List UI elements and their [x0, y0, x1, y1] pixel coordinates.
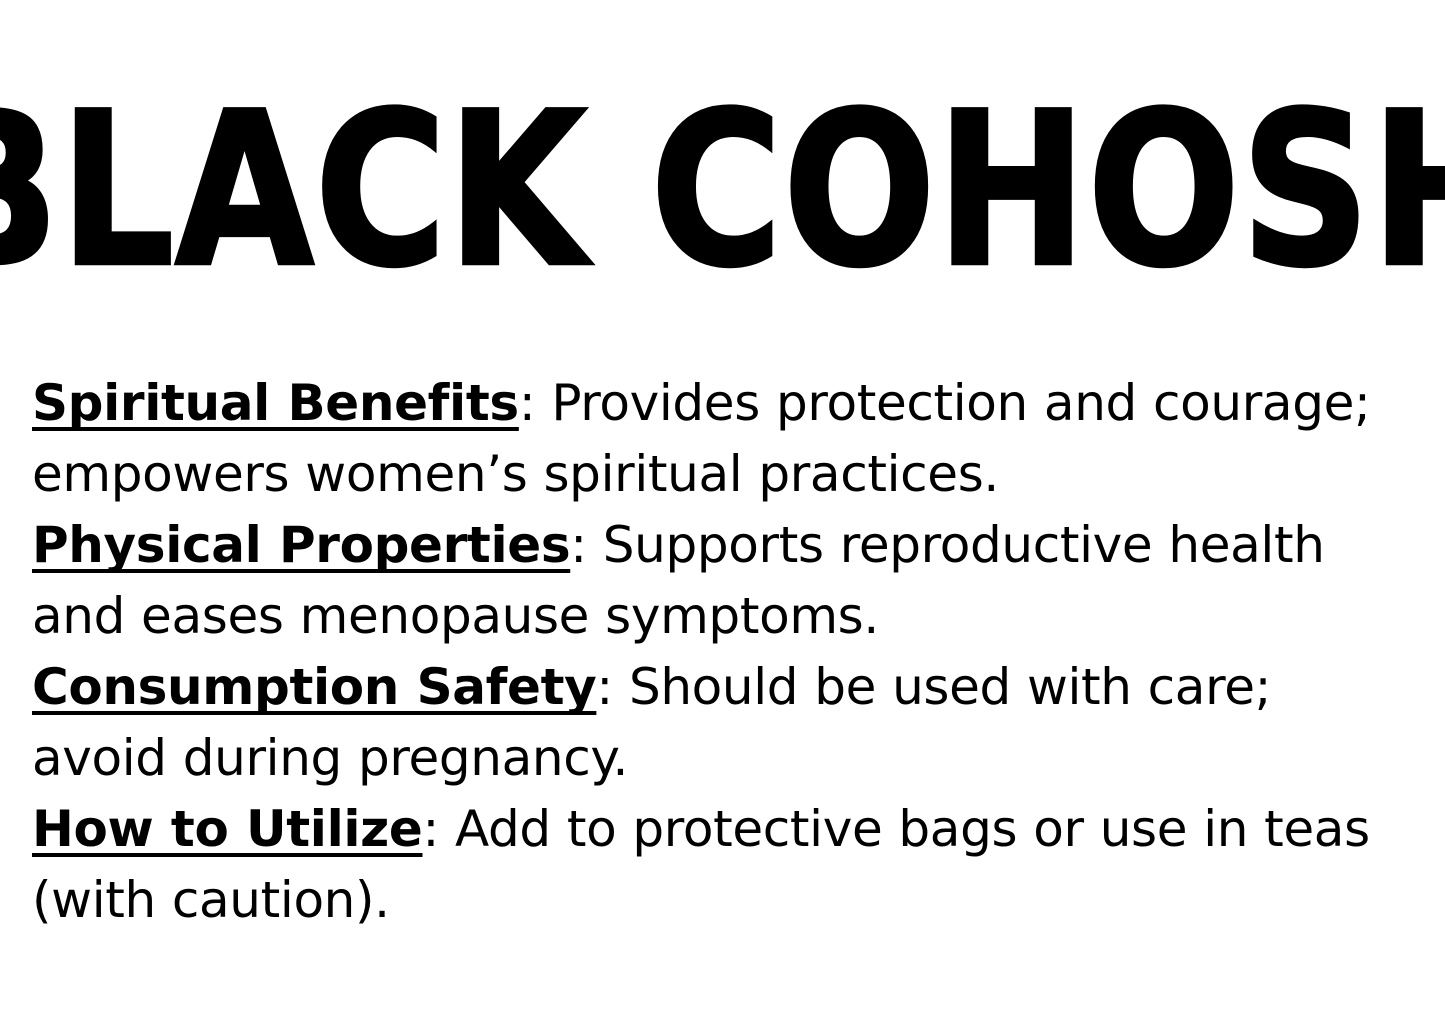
entry-label: Spiritual Benefits — [32, 374, 519, 432]
entry-label: Physical Properties — [32, 516, 570, 574]
entry-separator: : — [596, 658, 629, 716]
entry-consumption-safety: Consumption Safety: Should be used with … — [32, 652, 1392, 794]
page-title: BLACK COHOSH — [0, 96, 1445, 286]
entry-how-to-utilize: How to Utilize: Add to protective bags o… — [32, 794, 1392, 936]
entry-separator: : — [570, 516, 603, 574]
entry-physical-properties: Physical Properties: Supports reproducti… — [32, 510, 1392, 652]
herb-info-card: BLACK COHOSH Spiritual Benefits: Provide… — [0, 0, 1445, 1032]
entry-label: How to Utilize — [32, 800, 423, 858]
entry-label: Consumption Safety — [32, 658, 596, 716]
title-text: BLACK COHOSH — [0, 90, 1445, 291]
entry-separator: : — [423, 800, 456, 858]
entry-spiritual-benefits: Spiritual Benefits: Provides protection … — [32, 368, 1392, 510]
entry-separator: : — [519, 374, 552, 432]
body-content: Spiritual Benefits: Provides protection … — [32, 368, 1392, 936]
